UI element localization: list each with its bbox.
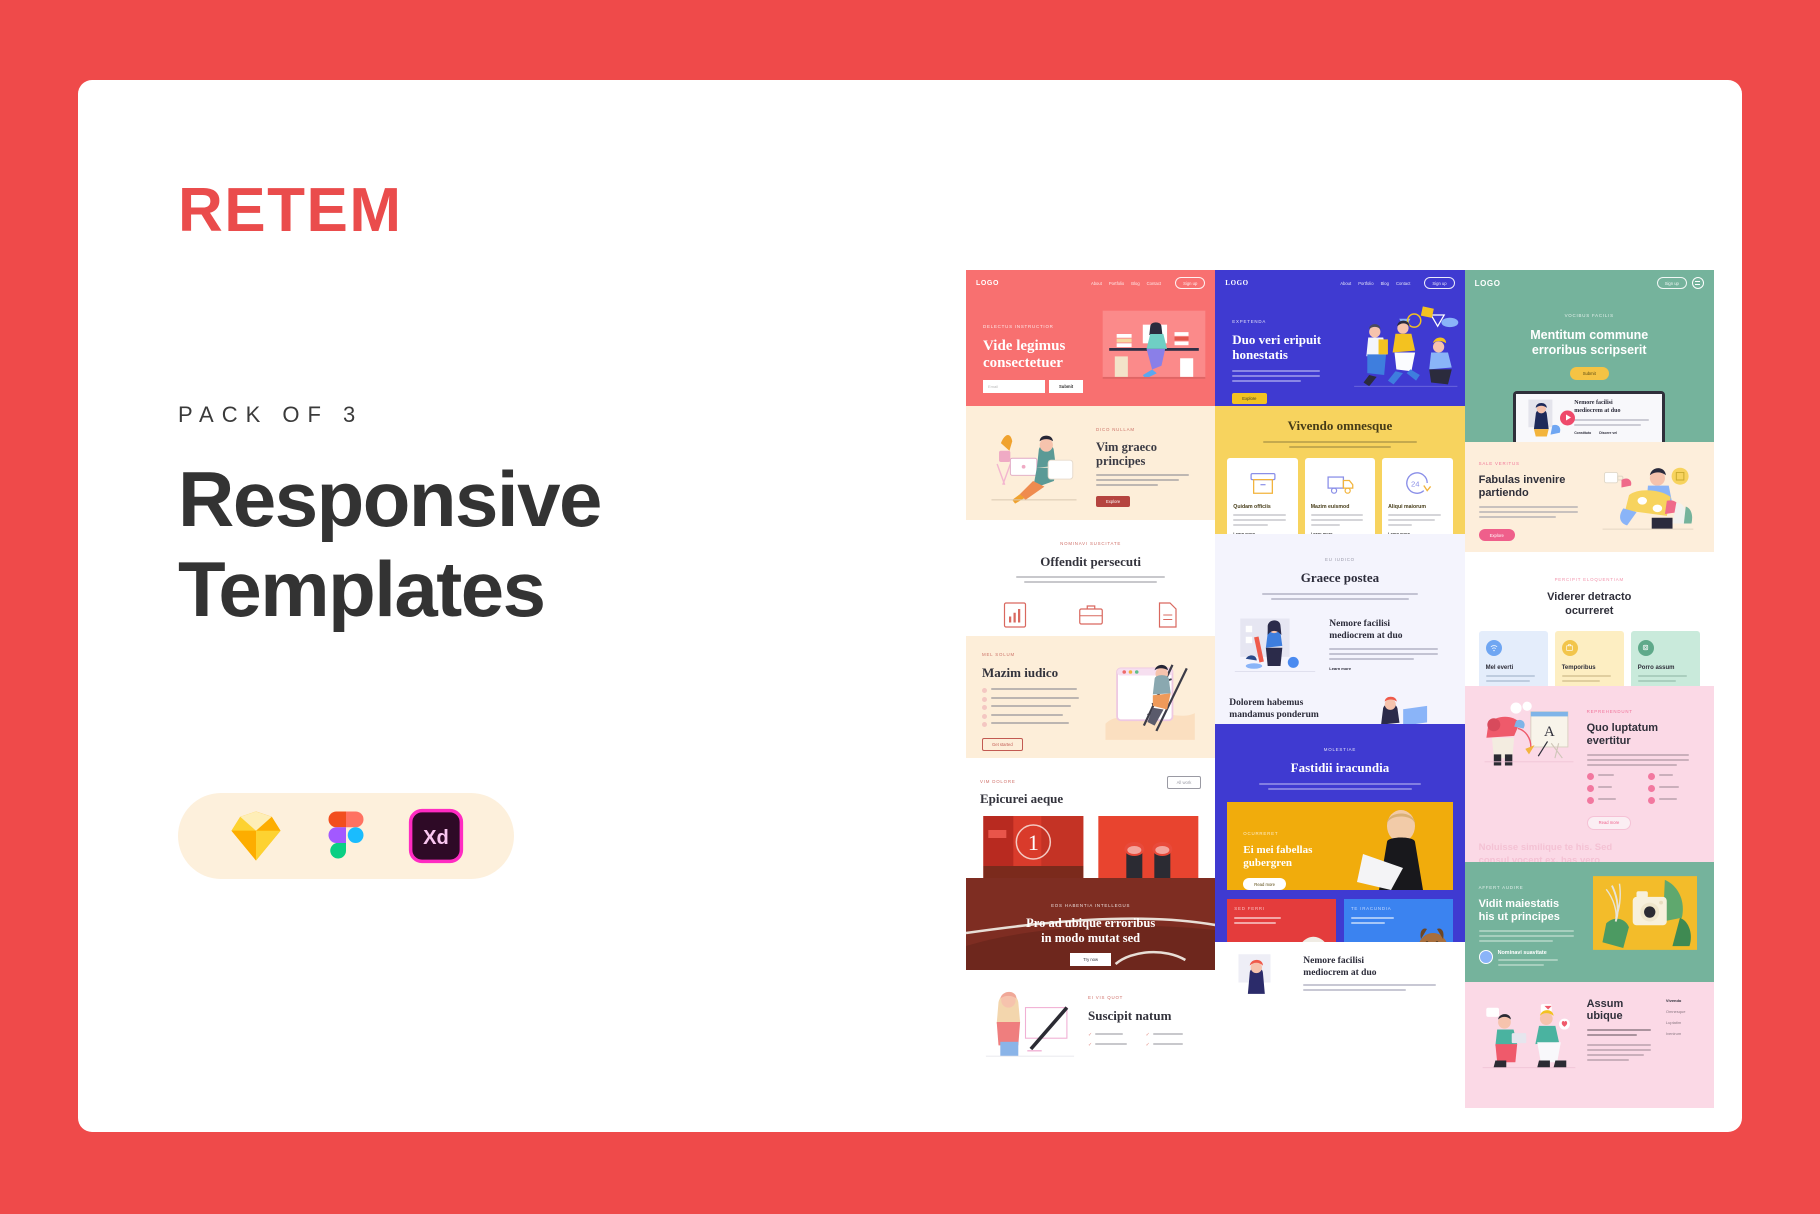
pack-eyebrow: PACK OF 3 bbox=[178, 402, 838, 428]
dog-photo bbox=[1401, 917, 1453, 942]
c1-hero-title-1: Vide legimus bbox=[983, 338, 1093, 355]
c3-viderer-card-1[interactable]: Temporibus bbox=[1555, 631, 1624, 687]
c2-graece-sub1-2: mediocrem at duo bbox=[1329, 631, 1450, 642]
c2-hero-illustration bbox=[1341, 298, 1463, 392]
c2-vivendo-card-title-0: Quidam officiis bbox=[1233, 504, 1291, 510]
c1-offendit[interactable]: Nominavi suscitate Offendit persecuti Po… bbox=[966, 520, 1215, 636]
c2-feature-card[interactable]: Ocurreret Ei mei fabellas gubergren Read… bbox=[1227, 802, 1452, 890]
c1-vim-graeco[interactable]: Dico nullam Vim graeco principes Explore bbox=[966, 406, 1215, 520]
c3-fabulas-illustration bbox=[1595, 459, 1699, 535]
c1-hero[interactable]: LOGO About Portfolio Blog Contact Sign u… bbox=[966, 270, 1215, 406]
c2-fastidii-eyebrow: Molestiae bbox=[1324, 747, 1356, 752]
c3-signup-button[interactable]: Sign up bbox=[1657, 277, 1687, 289]
c2-graece-title: Graece postea bbox=[1229, 570, 1450, 586]
c2-fastidii[interactable]: Molestiae Fastidii iracundia Ocurreret E… bbox=[1215, 724, 1464, 942]
c1-suscipit-illustration bbox=[980, 986, 1080, 1058]
c1-offendit-eyebrow: Nominavi suscitate bbox=[1060, 541, 1121, 546]
c3-fabulas-cta[interactable]: Explore bbox=[1479, 529, 1515, 541]
c3-assum-illustration bbox=[1479, 998, 1579, 1072]
c1-mazim-list bbox=[982, 688, 1093, 727]
c1-nav[interactable]: About Portfolio Blog Contact bbox=[1091, 281, 1161, 286]
document-icon bbox=[1152, 600, 1182, 630]
c3-logo: LOGO bbox=[1475, 279, 1501, 288]
c2-nav-2[interactable]: Blog bbox=[1381, 281, 1389, 286]
c3-viderer-title-card-1: Temporibus bbox=[1562, 665, 1617, 671]
c2-graece[interactable]: Eu iudico Graece postea bbox=[1215, 534, 1464, 724]
c3-assum-link-1[interactable]: Omnesque bbox=[1666, 1009, 1700, 1014]
c2-vivendo-card-0[interactable]: Quidam officiis Learn more bbox=[1227, 458, 1297, 534]
c3-feature-3 bbox=[1648, 785, 1698, 792]
c3-quo-illustration: A bbox=[1479, 700, 1579, 768]
c1-hero-title-2: consectetuer bbox=[983, 355, 1093, 372]
c1-hero-eyebrow: Delectus instructior bbox=[983, 324, 1054, 329]
c3-assum-link-2[interactable]: Luptatim bbox=[1666, 1020, 1700, 1025]
c1-logo: LOGO bbox=[976, 280, 999, 287]
chart-icon bbox=[1000, 600, 1030, 630]
c2-graece-sub1-1: Nemore facilisi bbox=[1329, 619, 1450, 630]
c1-epicurei-title: Epicurei aeque bbox=[980, 791, 1063, 807]
c1-signup-button[interactable]: Sign up bbox=[1175, 277, 1205, 289]
c2-photo-card-1[interactable]: Te iracundia bbox=[1344, 899, 1453, 942]
c2-footer-illustration bbox=[1229, 950, 1295, 1000]
c1-graeco-title-1: Vim graeco bbox=[1096, 440, 1199, 454]
c1-epicurei-eyebrow: Vim dolore bbox=[980, 779, 1016, 784]
c3-assum-link-3[interactable]: Ivenirum bbox=[1666, 1031, 1700, 1036]
c3-fabulas-eyebrow: SALE VERITUS bbox=[1479, 461, 1520, 466]
c2-nav-0[interactable]: About bbox=[1340, 281, 1351, 286]
c2-graece-illustration bbox=[1229, 613, 1321, 677]
c3-viderer-eyebrow: PERCIPIT ELOQUENTIAM bbox=[1555, 577, 1624, 582]
c3-feature-1 bbox=[1648, 773, 1698, 780]
avatar bbox=[1479, 950, 1493, 964]
template-column-2[interactable]: LOGO About Portfolio Blog Contact Sign u… bbox=[1215, 270, 1464, 1108]
c3-assum-link-0[interactable]: Vivendo bbox=[1666, 998, 1700, 1003]
c1-graeco-eyebrow: Dico nullam bbox=[1096, 427, 1135, 432]
template-column-3[interactable]: LOGO Sign up VOCIBUS FACILIS Mentit bbox=[1465, 270, 1714, 1108]
c2-signup-button[interactable]: Sign up bbox=[1424, 277, 1454, 289]
shield-icon bbox=[1638, 640, 1654, 656]
c1-offendit-card-2[interactable]: Deterruisset bbox=[1132, 593, 1201, 636]
c3-viderer-title-2: ocurreret bbox=[1479, 605, 1700, 619]
c2-graece-link[interactable]: Learn more bbox=[1329, 666, 1450, 671]
left-info-panel: RETEM PACK OF 3 Responsive Templates bbox=[178, 180, 838, 879]
c3-viderer-card-2[interactable]: Porro assum bbox=[1631, 631, 1700, 687]
c1-banner-title-2: in modo mutat sed bbox=[966, 931, 1215, 946]
c1-epicurei[interactable]: Vim dolore Epicurei aeque All work bbox=[966, 758, 1215, 878]
c3-hero-eyebrow: VOCIBUS FACILIS bbox=[1565, 313, 1614, 318]
c1-photo-0: 1 bbox=[980, 816, 1087, 878]
svg-text:24: 24 bbox=[1411, 479, 1420, 488]
c2-vivendo-card-title-2: Aliqui maiorum bbox=[1388, 504, 1446, 510]
c3-viderer-title-1: Viderer detracto bbox=[1479, 591, 1700, 605]
bag-icon bbox=[1562, 640, 1578, 656]
c3-feature-0 bbox=[1587, 773, 1637, 780]
c3-mockup-title-1: Nemore facilisi bbox=[1574, 400, 1657, 407]
c3-viderer[interactable]: PERCIPIT ELOQUENTIAM Viderer detracto oc… bbox=[1465, 552, 1714, 686]
c1-nav-3[interactable]: Contact bbox=[1147, 281, 1161, 286]
c1-graeco-title-2: principes bbox=[1096, 454, 1199, 468]
c3-quo-title-2: evertitur bbox=[1587, 735, 1700, 748]
c1-banner-cta[interactable]: Try now bbox=[1070, 953, 1111, 966]
c3-mockup-col1: Constituto bbox=[1574, 431, 1591, 435]
c2-footer-block[interactable]: Nemore facilisi mediocrem at duo bbox=[1215, 942, 1464, 1008]
c2-hero-cta[interactable]: Explore bbox=[1232, 393, 1266, 404]
c2-feature-eyebrow: Ocurreret bbox=[1243, 831, 1278, 836]
c3-assum-title: Assum ubique bbox=[1587, 998, 1658, 1022]
c3-quo-title-1: Quo luptatum bbox=[1587, 722, 1700, 735]
c1-suscipit-title: Suscipit natum bbox=[1088, 1008, 1201, 1024]
c3-hero[interactable]: LOGO Sign up VOCIBUS FACILIS Mentit bbox=[1465, 270, 1714, 442]
c1-banner-title-1: Pro ad ubique erroribus bbox=[966, 916, 1215, 931]
c1-graeco-cta[interactable]: Explore bbox=[1096, 496, 1130, 507]
list-item bbox=[982, 722, 1093, 727]
c3-vidit-person: Nominavi suavitate bbox=[1479, 950, 1585, 969]
c1-photo-card-1[interactable]: Ea vivendo omnesque bbox=[1095, 816, 1202, 878]
c3-feature-2 bbox=[1587, 785, 1637, 792]
c2-photo-card-0[interactable]: Sed ferri bbox=[1227, 899, 1336, 942]
c1-photo-1 bbox=[1095, 816, 1202, 878]
c3-viderer-title-card-2: Porro assum bbox=[1638, 665, 1693, 671]
template-preview-grid[interactable]: LOGO About Portfolio Blog Contact Sign u… bbox=[966, 270, 1714, 1108]
app-compatibility-pill: Xd bbox=[178, 793, 514, 879]
headline-line-1: Responsive bbox=[178, 454, 838, 544]
c1-submit-button[interactable]: Submit bbox=[1049, 380, 1083, 393]
list-item bbox=[982, 688, 1093, 693]
c3-vidit-photo bbox=[1593, 876, 1697, 950]
svg-text:1: 1 bbox=[1028, 830, 1039, 855]
c2-hero[interactable]: LOGO About Portfolio Blog Contact Sign u… bbox=[1215, 270, 1464, 406]
c3-mockup-col2: Discere vel bbox=[1599, 431, 1617, 435]
page-title: Responsive Templates bbox=[178, 454, 838, 635]
24h-icon: 24 bbox=[1400, 468, 1434, 498]
c1-hero-illustration bbox=[1098, 306, 1210, 390]
c2-feature-cta[interactable]: Read more bbox=[1243, 878, 1286, 890]
hamburger-menu-icon[interactable] bbox=[1692, 277, 1704, 289]
c3-feature-4 bbox=[1587, 797, 1637, 804]
c2-vivendo-title: Vivendo omnesque bbox=[1227, 418, 1452, 434]
svg-text:Xd: Xd bbox=[423, 827, 449, 849]
c1-suscipit-eyebrow: Ei vis quot bbox=[1088, 995, 1123, 1000]
c2-hero-title-1: Duo veri eripuit bbox=[1232, 333, 1330, 348]
c2-pc0-eyebrow: Sed ferri bbox=[1234, 906, 1265, 911]
c3-fabulas-title-1: Fabulas invenire bbox=[1479, 474, 1590, 487]
c3-vidit-eyebrow: AFFERT AUDIRE bbox=[1479, 885, 1524, 890]
c2-feature-title-1: Ei mei fabellas bbox=[1243, 844, 1343, 857]
c3-quo-cta[interactable]: Read more bbox=[1587, 816, 1632, 830]
c1-offendit-title: Offendit persecuti bbox=[980, 554, 1201, 570]
c1-nav-2[interactable]: Blog bbox=[1131, 281, 1139, 286]
c2-nav-1[interactable]: Portfolio bbox=[1358, 281, 1373, 286]
c3-hero-title-2: erroribus scripserit bbox=[1465, 343, 1714, 358]
c1-suscipit-item-3: ✓ bbox=[1146, 1042, 1194, 1048]
c1-suscipit-item-1: ✓ bbox=[1146, 1032, 1194, 1038]
c2-graece-illustration-2 bbox=[1359, 691, 1451, 724]
c1-mazim-cta[interactable]: Get started bbox=[982, 738, 1023, 751]
c3-quo-quote: Noluisse similique te his. Sed consul vo… bbox=[1479, 842, 1616, 862]
c3-quo-features bbox=[1587, 773, 1700, 804]
c1-suscipit[interactable]: Ei vis quot Suscipit natum ✓ ✓ ✓ ✓ bbox=[966, 970, 1215, 1108]
c2-hero-eyebrow: Expetenda bbox=[1232, 319, 1266, 324]
play-button-icon[interactable] bbox=[1560, 410, 1575, 425]
list-item bbox=[982, 697, 1093, 702]
c1-banner-eyebrow: Eos habentia intellegus bbox=[1051, 903, 1130, 908]
c3-hero-title-1: Mentitum commune bbox=[1465, 328, 1714, 343]
c1-suscipit-item-2: ✓ bbox=[1088, 1042, 1136, 1048]
c3-quo-eyebrow: REPREHENDUNT bbox=[1587, 709, 1633, 714]
c3-laptop-mockup[interactable]: Nemore facilisi mediocrem at duo Constit… bbox=[1513, 391, 1665, 443]
c1-mazim-illustration bbox=[1101, 652, 1199, 742]
c3-hero-cta[interactable]: Submit bbox=[1570, 367, 1609, 380]
c2-fastidii-title: Fastidii iracundia bbox=[1227, 760, 1452, 776]
c3-vidit-person-name: Nominavi suavitate bbox=[1498, 950, 1558, 956]
c2-vivendo-card-title-1: Mazim euismod bbox=[1311, 504, 1369, 510]
c2-footer-title-2: mediocrem at duo bbox=[1303, 968, 1450, 979]
c1-suscipit-item-0: ✓ bbox=[1088, 1032, 1136, 1038]
poster-sheet: RETEM PACK OF 3 Responsive Templates bbox=[78, 80, 1742, 1132]
c2-pc1-eyebrow: Te iracundia bbox=[1351, 906, 1392, 911]
c2-feature-title-2: gubergren bbox=[1243, 857, 1343, 870]
poster-canvas: RETEM PACK OF 3 Responsive Templates bbox=[0, 0, 1820, 1214]
c2-logo: LOGO bbox=[1225, 279, 1248, 287]
brand-logo: RETEM bbox=[178, 180, 838, 242]
c2-vivendo-card-1[interactable]: Mazim euismod Learn more bbox=[1305, 458, 1375, 534]
c2-vivendo-card-2[interactable]: 24 Aliqui maiorum Learn more bbox=[1382, 458, 1452, 534]
c2-graece-eyebrow: Eu iudico bbox=[1325, 557, 1355, 562]
wifi-icon bbox=[1486, 640, 1502, 656]
c3-quo[interactable]: A REPREHEN bbox=[1465, 686, 1714, 862]
c1-mazim-title: Mazim iudico bbox=[982, 665, 1093, 681]
c1-email-input[interactable]: Email bbox=[983, 380, 1045, 393]
svg-text:A: A bbox=[1544, 724, 1555, 740]
box-icon bbox=[1246, 468, 1280, 498]
c2-footer-title-1: Nemore facilisi bbox=[1303, 956, 1450, 967]
c2-nav[interactable]: About Portfolio Blog Contact bbox=[1340, 281, 1410, 286]
c2-vivendo[interactable]: Vivendo omnesque Quidam officiis Learn m… bbox=[1215, 406, 1464, 534]
c3-assum[interactable]: Assum ubique Vivendo Omnesque Luptatim I… bbox=[1465, 982, 1714, 1108]
figma-icon bbox=[318, 808, 374, 864]
list-item bbox=[982, 714, 1093, 719]
c1-epicurei-all[interactable]: All work bbox=[1167, 776, 1202, 789]
sketch-icon bbox=[228, 808, 284, 864]
c1-banner[interactable]: Eos habentia intellegus Pro ad ubique er… bbox=[966, 878, 1215, 970]
c2-feature-photo bbox=[1343, 802, 1453, 890]
template-column-1[interactable]: LOGO About Portfolio Blog Contact Sign u… bbox=[966, 270, 1215, 1108]
c3-vidit-title-2: his ut principes bbox=[1479, 911, 1585, 924]
c1-offendit-card-0[interactable]: Possim bbox=[980, 593, 1049, 636]
c3-viderer-title-card-0: Mel everti bbox=[1486, 665, 1541, 671]
briefcase-icon bbox=[1076, 600, 1106, 630]
c2-graece-sub2-1: Dolorem habemus bbox=[1229, 698, 1350, 709]
c3-viderer-card-0[interactable]: Mel everti bbox=[1479, 631, 1548, 687]
c2-hero-title-2: honestatis bbox=[1232, 348, 1330, 363]
c2-graece-sub2-2: mandamus ponderum bbox=[1229, 710, 1350, 721]
c1-graeco-illustration bbox=[982, 422, 1086, 504]
c1-mazim-eyebrow: Mel solum bbox=[982, 652, 1015, 657]
truck-icon bbox=[1323, 468, 1357, 498]
c1-offendit-card-1[interactable]: Vivendo bbox=[1056, 593, 1125, 636]
c3-fabulas[interactable]: SALE VERITUS Fabulas invenire partiendo … bbox=[1465, 442, 1714, 552]
c1-photo-card-0[interactable]: 1 Postea nam at possa dicta bbox=[980, 816, 1087, 878]
c3-fabulas-title-2: partiendo bbox=[1479, 487, 1590, 500]
adobe-xd-icon: Xd bbox=[408, 808, 464, 864]
c1-nav-0[interactable]: About bbox=[1091, 281, 1102, 286]
c3-feature-5 bbox=[1648, 797, 1698, 804]
headline-line-2: Templates bbox=[178, 544, 838, 634]
c3-vidit[interactable]: AFFERT AUDIRE Vidit maiestatis his ut pr… bbox=[1465, 862, 1714, 982]
c1-mazim[interactable]: Mel solum Mazim iudico Get started bbox=[966, 636, 1215, 758]
c3-mockup-title-2: mediocrem at duo bbox=[1574, 408, 1657, 415]
c1-nav-1[interactable]: Portfolio bbox=[1109, 281, 1124, 286]
sculpture-photo bbox=[1286, 921, 1336, 942]
c2-nav-3[interactable]: Contact bbox=[1396, 281, 1410, 286]
c3-vidit-title-1: Vidit maiestatis bbox=[1479, 898, 1585, 911]
list-item bbox=[982, 705, 1093, 710]
